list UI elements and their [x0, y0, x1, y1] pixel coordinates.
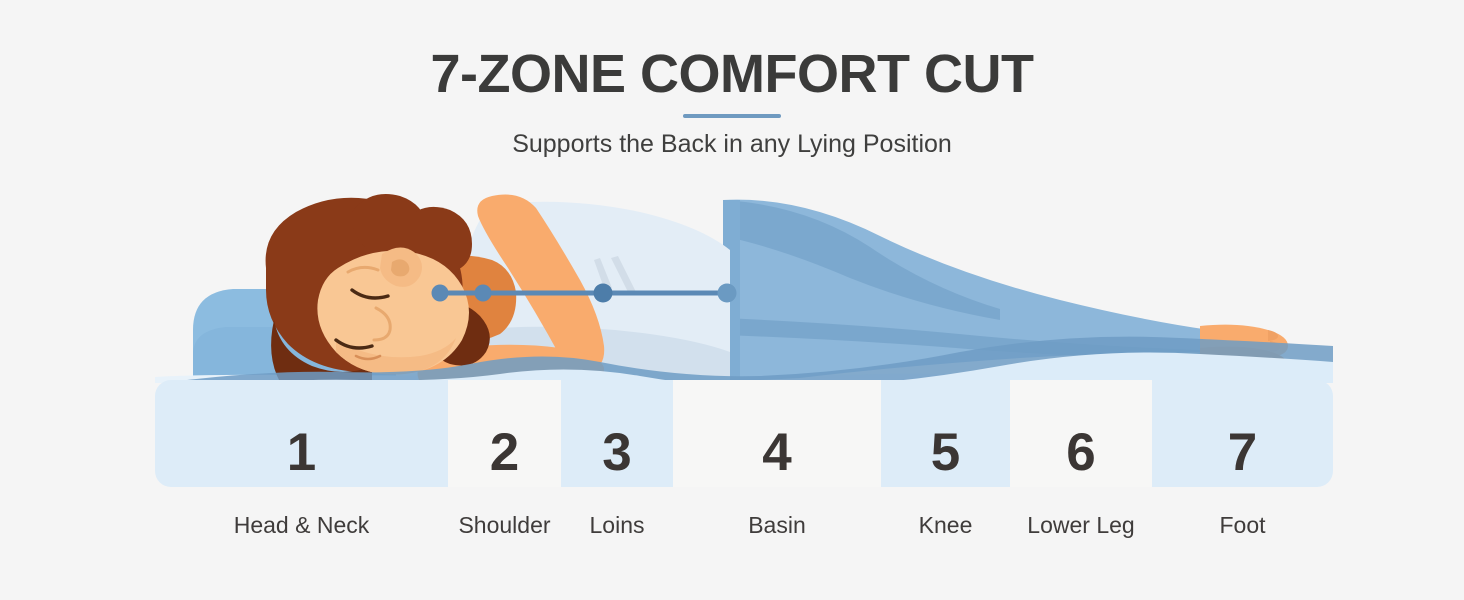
pillow-icon	[193, 289, 396, 388]
page-title: 7-ZONE COMFORT CUT	[0, 0, 1464, 102]
mattress-zone-6: 6	[1010, 380, 1152, 487]
mattress-zone-3: 3	[561, 380, 673, 487]
header: 7-ZONE COMFORT CUT Supports the Back in …	[0, 0, 1464, 159]
zone-label-4: Basin	[673, 512, 881, 552]
mattress-zone-4: 4	[673, 380, 881, 487]
zone-number: 5	[881, 426, 1010, 479]
arm	[418, 195, 605, 383]
zone-number: 7	[1152, 426, 1333, 479]
feet	[1200, 325, 1288, 378]
hair	[266, 194, 490, 382]
mattress-zone-strip: 1234567	[155, 380, 1333, 487]
face	[317, 247, 469, 374]
zone-number: 2	[448, 426, 561, 479]
seven-zone-comfort-cut-infographic: 7-ZONE COMFORT CUT Supports the Back in …	[0, 0, 1464, 600]
spine-alignment-line	[432, 284, 737, 303]
blanket	[723, 200, 1210, 382]
neck-shoulder	[414, 255, 517, 341]
zone-label-1: Head & Neck	[155, 512, 448, 552]
mattress-zone-1: 1	[155, 380, 448, 487]
mattress-zone-2: 2	[448, 380, 561, 487]
torso	[458, 202, 730, 382]
zone-label-5: Knee	[881, 512, 1010, 552]
zone-number: 3	[561, 426, 673, 479]
mattress: 1234567	[155, 380, 1333, 498]
zone-number: 1	[155, 426, 448, 479]
zone-number: 6	[1010, 426, 1152, 479]
page-subtitle: Supports the Back in any Lying Position	[0, 118, 1464, 159]
zone-label-3: Loins	[561, 512, 673, 552]
zone-label-row: Head & NeckShoulderLoinsBasinKneeLower L…	[155, 512, 1333, 552]
zone-label-7: Foot	[1152, 512, 1333, 552]
mattress-zone-5: 5	[881, 380, 1010, 487]
mattress-zone-7: 7	[1152, 380, 1333, 487]
zone-label-6: Lower Leg	[1010, 512, 1152, 552]
zone-label-2: Shoulder	[448, 512, 561, 552]
zone-number: 4	[673, 426, 881, 479]
